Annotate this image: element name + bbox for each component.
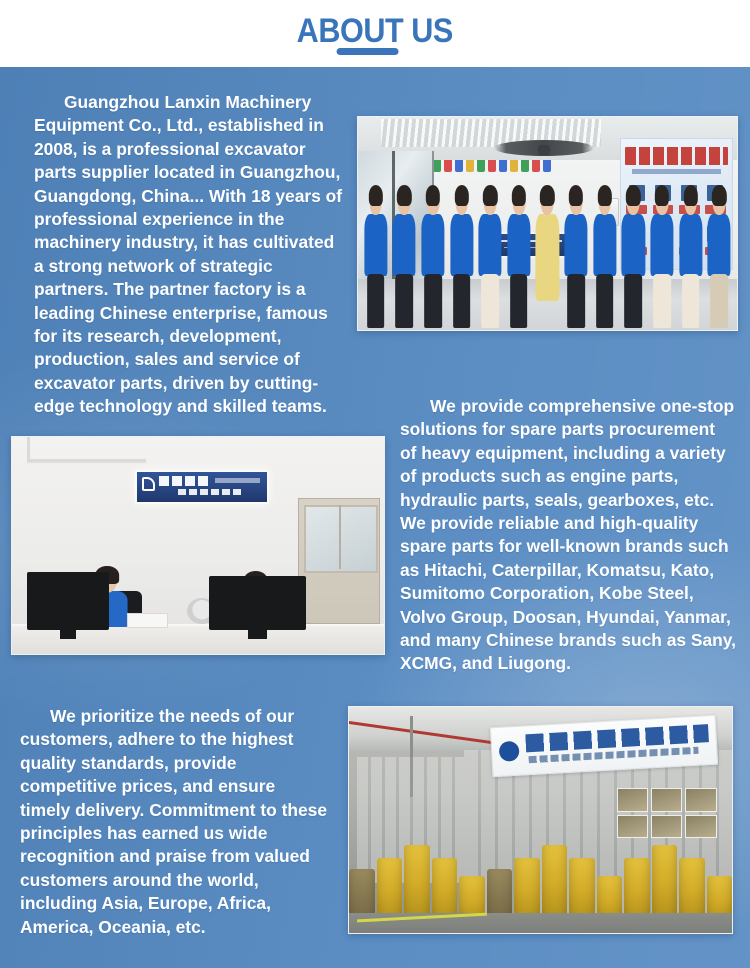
team-member bbox=[648, 187, 676, 328]
computer-monitor bbox=[27, 572, 109, 631]
paragraph-products-and-brands: We provide comprehensive one-stop soluti… bbox=[400, 395, 736, 676]
computer-monitor bbox=[209, 576, 306, 630]
team-member bbox=[448, 187, 476, 328]
team-member bbox=[390, 187, 418, 328]
title-underline-accent bbox=[337, 48, 399, 55]
sign-english-tagline bbox=[215, 478, 260, 483]
sign-chinese-fullname bbox=[178, 489, 243, 496]
team-member bbox=[591, 187, 619, 328]
warehouse-floor bbox=[349, 913, 732, 933]
team-member bbox=[362, 187, 390, 328]
paragraph-company-intro: Guangzhou Lanxin Machinery Equipment Co.… bbox=[34, 91, 346, 419]
page-title: ABOUT US bbox=[297, 14, 453, 48]
company-logo-icon bbox=[142, 477, 155, 491]
banner-subtitle bbox=[632, 169, 721, 174]
sign-chinese-name bbox=[159, 476, 211, 485]
banner-company-name bbox=[625, 147, 728, 165]
content-panel: Guangzhou Lanxin Machinery Equipment Co.… bbox=[0, 67, 750, 968]
team-member bbox=[705, 187, 733, 328]
warehouse-photo bbox=[348, 706, 733, 934]
team-member bbox=[562, 187, 590, 328]
warehouse-photo-content bbox=[349, 707, 732, 933]
company-sign bbox=[135, 470, 269, 505]
product-posters bbox=[617, 788, 717, 838]
team-photo bbox=[357, 116, 738, 331]
team-member bbox=[419, 187, 447, 328]
team-member-center bbox=[534, 187, 562, 328]
paper-stack bbox=[127, 613, 168, 628]
wall-pipe bbox=[27, 459, 146, 462]
paragraph-customer-commitment: We prioritize the needs of our customers… bbox=[20, 705, 330, 939]
about-us-page: ABOUT US Guangzhou Lanxin Machinery Equi… bbox=[0, 0, 750, 968]
company-logo-icon bbox=[498, 741, 519, 762]
storage-cabinet bbox=[298, 498, 380, 624]
team-member bbox=[620, 187, 648, 328]
team-member bbox=[505, 187, 533, 328]
page-title-wrap: ABOUT US bbox=[288, 14, 462, 54]
team-member bbox=[476, 187, 504, 328]
office-photo-content bbox=[12, 437, 384, 654]
office-photo bbox=[11, 436, 385, 655]
page-header: ABOUT US bbox=[0, 0, 750, 67]
team-member bbox=[677, 187, 705, 328]
team-photo-content bbox=[358, 117, 737, 330]
team-members-row bbox=[362, 187, 733, 328]
